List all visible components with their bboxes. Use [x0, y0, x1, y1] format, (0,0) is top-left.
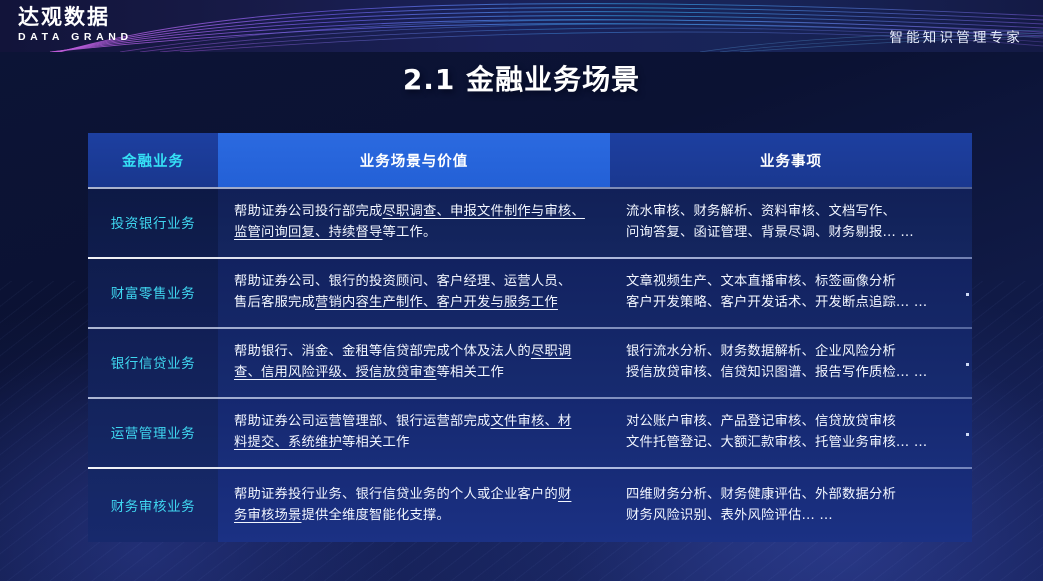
row-category-cell: 银行信贷业务: [88, 327, 218, 397]
header-cell-scenario: 业务场景与价值: [218, 133, 610, 187]
table-header-row: 金融业务 业务场景与价值 业务事项: [88, 133, 972, 187]
header-cell-items: 业务事项: [610, 133, 972, 187]
brand-name-cn: 达观数据: [18, 5, 133, 29]
slide-root: 达观数据 DATA GRAND 智能知识管理专家 2.1 金融业务场景 金融业务…: [0, 0, 1043, 581]
items-text: 流水审核、财务解析、资料审核、文档写作、问询答复、函证管理、背景尽调、财务剔报……: [626, 201, 914, 243]
top-banner: 达观数据 DATA GRAND 智能知识管理专家: [0, 0, 1043, 52]
business-scenario-table: 金融业务 业务场景与价值 业务事项 投资银行业务 帮助证券公司投行部完成尽职调查…: [88, 133, 972, 542]
row-items-cell: 对公账户审核、产品登记审核、信贷放贷审核文件托管登记、大额汇款审核、托管业务审核…: [610, 397, 972, 467]
items-text: 对公账户审核、产品登记审核、信贷放贷审核文件托管登记、大额汇款审核、托管业务审核…: [626, 411, 927, 453]
table-body: 投资银行业务 帮助证券公司投行部完成尽职调查、申报文件制作与审核、监管问询回复、…: [88, 187, 972, 542]
table-row[interactable]: 运营管理业务 帮助证券公司运营管理部、银行运营部完成文件审核、材料提交、系统维护…: [88, 397, 972, 467]
scenario-text: 帮助证券投行业务、银行信贷业务的个人或企业客户的财务审核场景提供全维度智能化支撑…: [234, 484, 571, 526]
items-text: 银行流水分析、财务数据解析、企业风险分析授信放贷审核、信贷知识图谱、报告写作质检…: [626, 341, 927, 383]
category-label: 银行信贷业务: [111, 352, 196, 372]
brand-tagline: 智能知识管理专家: [889, 26, 1023, 46]
header-cell-category: 金融业务: [88, 133, 218, 187]
row-items-cell: 四维财务分析、财务健康评估、外部数据分析财务风险识别、表外风险评估… …: [610, 467, 972, 542]
row-items-cell: 银行流水分析、财务数据解析、企业风险分析授信放贷审核、信贷知识图谱、报告写作质检…: [610, 327, 972, 397]
table-row[interactable]: 投资银行业务 帮助证券公司投行部完成尽职调查、申报文件制作与审核、监管问询回复、…: [88, 187, 972, 257]
row-end-marker: [966, 363, 969, 366]
row-category-cell: 运营管理业务: [88, 397, 218, 467]
brand-logo: 达观数据 DATA GRAND: [18, 5, 133, 44]
row-scenario-cell: 帮助证券投行业务、银行信贷业务的个人或企业客户的财务审核场景提供全维度智能化支撑…: [218, 467, 610, 542]
row-category-cell: 财富零售业务: [88, 257, 218, 327]
scenario-text: 帮助证券公司、银行的投资顾问、客户经理、运营人员、售后客服完成营销内容生产制作、…: [234, 271, 571, 313]
row-scenario-cell: 帮助证券公司、银行的投资顾问、客户经理、运营人员、售后客服完成营销内容生产制作、…: [218, 257, 610, 327]
row-end-marker: [966, 433, 969, 436]
row-category-cell: 财务审核业务: [88, 467, 218, 542]
row-end-marker: [966, 293, 969, 296]
header-label-category: 金融业务: [122, 150, 184, 171]
category-label: 财富零售业务: [111, 282, 196, 302]
header-label-scenario: 业务场景与价值: [360, 150, 469, 171]
row-category-cell: 投资银行业务: [88, 187, 218, 257]
row-items-cell: 流水审核、财务解析、资料审核、文档写作、问询答复、函证管理、背景尽调、财务剔报……: [610, 187, 972, 257]
header-label-items: 业务事项: [760, 150, 822, 171]
items-text: 文章视频生产、文本直播审核、标签画像分析客户开发策略、客户开发话术、开发断点追踪…: [626, 271, 927, 313]
row-scenario-cell: 帮助证券公司投行部完成尽职调查、申报文件制作与审核、监管问询回复、持续督导等工作…: [218, 187, 610, 257]
category-label: 运营管理业务: [111, 422, 196, 442]
items-text: 四维财务分析、财务健康评估、外部数据分析财务风险识别、表外风险评估… …: [626, 484, 896, 526]
brand-name-en: DATA GRAND: [18, 30, 133, 44]
category-label: 财务审核业务: [111, 495, 196, 515]
page-title: 2.1 金融业务场景: [0, 58, 1043, 98]
banner-wave-graphic: [0, 0, 1043, 52]
scenario-text: 帮助证券公司投行部完成尽职调查、申报文件制作与审核、监管问询回复、持续督导等工作…: [234, 201, 585, 243]
scenario-text: 帮助证券公司运营管理部、银行运营部完成文件审核、材料提交、系统维护等相关工作: [234, 411, 571, 453]
row-items-cell: 文章视频生产、文本直播审核、标签画像分析客户开发策略、客户开发话术、开发断点追踪…: [610, 257, 972, 327]
category-label: 投资银行业务: [111, 212, 196, 232]
row-scenario-cell: 帮助银行、消金、金租等信贷部完成个体及法人的尽职调查、信用风险评级、授信放贷审查…: [218, 327, 610, 397]
table-row[interactable]: 财务审核业务 帮助证券投行业务、银行信贷业务的个人或企业客户的财务审核场景提供全…: [88, 467, 972, 542]
table-row[interactable]: 财富零售业务 帮助证券公司、银行的投资顾问、客户经理、运营人员、售后客服完成营销…: [88, 257, 972, 327]
scenario-text: 帮助银行、消金、金租等信贷部完成个体及法人的尽职调查、信用风险评级、授信放贷审查…: [234, 341, 571, 383]
table-row[interactable]: 银行信贷业务 帮助银行、消金、金租等信贷部完成个体及法人的尽职调查、信用风险评级…: [88, 327, 972, 397]
row-scenario-cell: 帮助证券公司运营管理部、银行运营部完成文件审核、材料提交、系统维护等相关工作: [218, 397, 610, 467]
